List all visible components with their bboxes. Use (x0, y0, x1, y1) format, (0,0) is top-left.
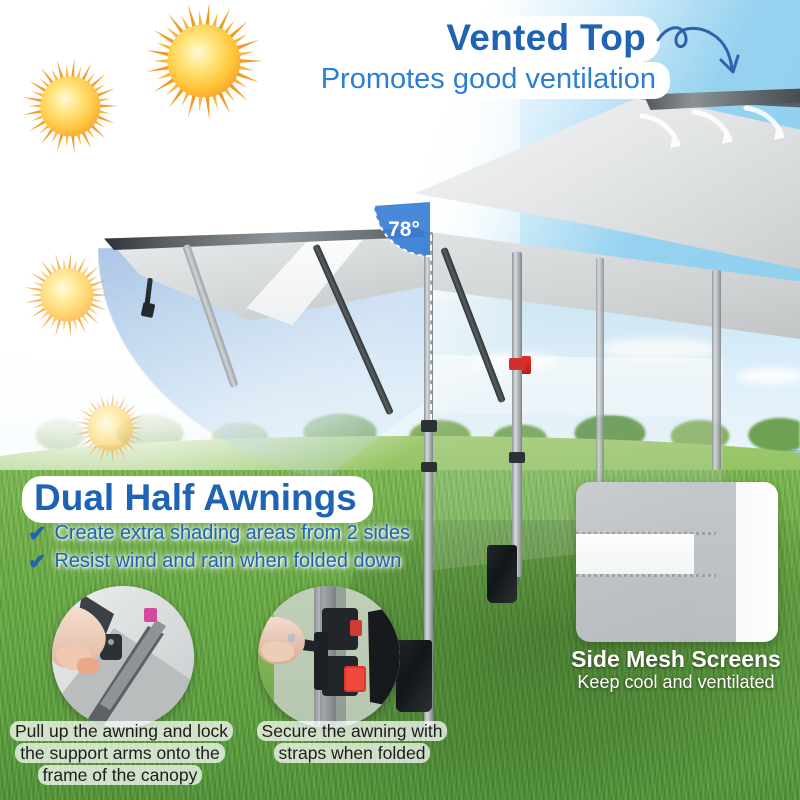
canopy-mesh-band (433, 355, 723, 417)
promotes-label: Promotes good ventilation (307, 62, 670, 99)
bullet-text: Resist wind and rain when folded down (54, 550, 401, 573)
vented-top-heading: Vented Top (400, 16, 660, 62)
product-feature-image: 78° Vented Top Promotes good ventilation… (0, 0, 800, 800)
sun-core (88, 406, 133, 451)
cloud (736, 368, 800, 384)
side-mesh-screens-title: Side Mesh Screens (556, 646, 796, 673)
caption-secure-strap: Secure the awning with straps when folde… (242, 720, 462, 764)
panel-mesh-band (576, 534, 694, 574)
sun-core (40, 76, 100, 136)
caption-lock-support-arm: Pull up the awning and lock the support … (10, 720, 230, 786)
list-item: ✔ Create extra shading areas from 2 side… (28, 522, 410, 545)
bullet-text: Create extra shading areas from 2 sides (54, 522, 410, 545)
sun-icon (145, 2, 263, 120)
sandbag-weight (487, 545, 517, 603)
sandbag-weight (396, 640, 432, 712)
promotes-subheading: Promotes good ventilation (250, 62, 670, 99)
canopy-pole-right (512, 252, 522, 577)
canopy-pole-far (712, 270, 721, 470)
dual-half-awnings-heading: Dual Half Awnings (22, 476, 373, 523)
inset-photo-lock-support-arm (52, 586, 194, 728)
sun-core (167, 24, 240, 97)
angle-badge-value: 78° (388, 218, 420, 241)
caption-text: Pull up the awning and lock the support … (10, 721, 233, 785)
pole-joint (509, 452, 525, 463)
inset-photo-secure-strap (258, 586, 400, 728)
inset-panel-side-mesh-screen (576, 482, 778, 642)
pole-joint (421, 462, 437, 472)
dual-half-awnings-label: Dual Half Awnings (22, 476, 373, 523)
list-item: ✔ Resist wind and rain when folded down (28, 550, 410, 573)
check-icon: ✔ (28, 523, 46, 545)
panel-right-section (694, 482, 736, 642)
angle-badge: 78° (360, 198, 434, 268)
panel-seam-bottom (576, 574, 716, 577)
canopy-pole-back (596, 258, 604, 488)
awning-bullet-list: ✔ Create extra shading areas from 2 side… (28, 522, 410, 578)
check-icon: ✔ (28, 551, 46, 573)
sun-icon (24, 252, 110, 338)
vented-top-label: Vented Top (432, 16, 660, 62)
pole-joint (421, 420, 437, 432)
curved-arrow-icon (654, 22, 758, 84)
sun-icon (74, 392, 146, 464)
caption-text: Secure the awning with straps when folde… (257, 721, 448, 763)
side-mesh-screens-subtitle: Keep cool and ventilated (556, 672, 796, 693)
pole-joint (509, 358, 526, 370)
airflow-arrow-icon (742, 100, 800, 146)
panel-white-edge (736, 482, 778, 642)
sun-icon (22, 58, 118, 154)
